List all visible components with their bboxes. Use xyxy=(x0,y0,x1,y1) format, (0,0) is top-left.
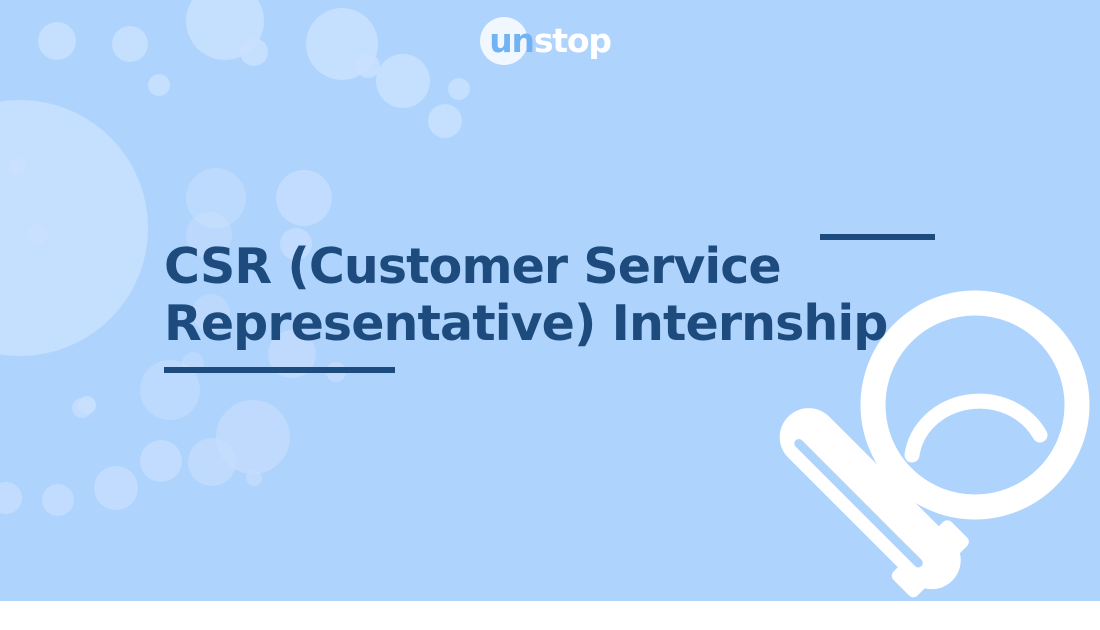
decorative-bubble xyxy=(246,470,262,486)
logo-text-stop: stop xyxy=(534,21,611,60)
unstop-logo-text: unstop xyxy=(489,16,611,66)
accent-rule-under-title xyxy=(164,367,395,373)
decorative-bubble xyxy=(8,158,26,176)
page-title-text: CSR (Customer Service Representative) In… xyxy=(164,238,924,352)
page-title: CSR (Customer Service Representative) In… xyxy=(164,238,924,352)
decorative-bubble xyxy=(148,74,170,96)
unstop-logo-inner: unstop xyxy=(489,16,611,66)
decorative-bubble xyxy=(140,440,182,482)
large-blob-circle xyxy=(0,100,148,356)
decorative-bubble xyxy=(448,78,470,100)
decorative-bubble xyxy=(428,104,462,138)
decorative-bubble xyxy=(276,170,332,226)
logo-text-un: un xyxy=(489,21,534,60)
decorative-bubble xyxy=(216,400,290,474)
decorative-bubble xyxy=(42,484,74,516)
decorative-bubble xyxy=(94,466,138,510)
decorative-bubble xyxy=(78,396,96,414)
decorative-bubble xyxy=(188,438,236,486)
decorative-bubble xyxy=(72,398,92,418)
decorative-bubble xyxy=(186,168,246,228)
internship-banner: unstop xyxy=(0,0,1100,630)
banner-background: unstop xyxy=(0,0,1100,601)
decorative-bubble xyxy=(0,482,22,514)
unstop-logo[interactable]: unstop xyxy=(0,16,1100,66)
decorative-bubble xyxy=(28,224,48,244)
